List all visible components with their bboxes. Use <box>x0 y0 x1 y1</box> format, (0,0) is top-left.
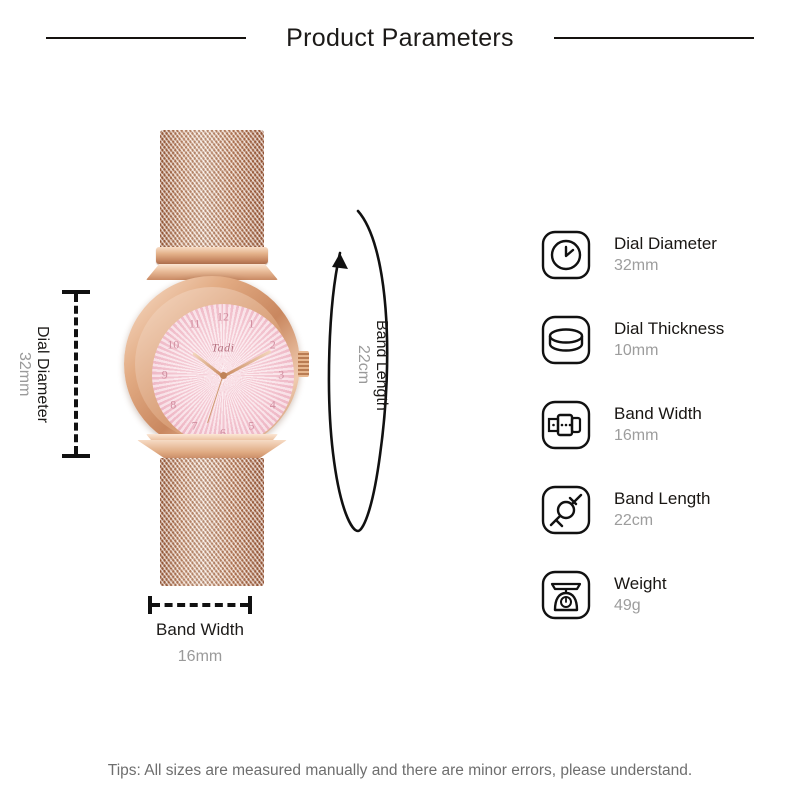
dial-numeral-7: 7 <box>192 419 198 434</box>
watch-face-icon <box>540 229 592 281</box>
watch-dial: Tadi 12 1 2 3 4 5 6 7 8 9 10 11 <box>152 304 294 446</box>
weight-scale-icon <box>540 569 592 621</box>
header-rule-left <box>46 37 246 39</box>
watch-second-hand <box>207 375 223 423</box>
footer-tip: Tips: All sizes are measured manually an… <box>0 762 800 780</box>
band-length-value: 22cm <box>354 345 372 384</box>
measure-cap-bottom <box>62 454 90 458</box>
watch-band-lower <box>160 458 264 586</box>
page-title: Product Parameters <box>286 24 514 53</box>
spec-label: Dial Diameter <box>614 234 717 254</box>
band-length-callout: Band Length 22cm <box>352 300 390 430</box>
spec-value: 16mm <box>614 427 702 445</box>
watch-band-icon <box>540 399 592 451</box>
dial-diameter-measure-line <box>62 290 90 458</box>
product-watch-image: Tadi 12 1 2 3 4 5 6 7 8 9 10 11 <box>112 118 312 588</box>
spec-value: 22cm <box>614 512 710 530</box>
watch-band-upper <box>160 130 264 256</box>
spec-text: Band Length 22cm <box>614 489 710 530</box>
spec-value: 10mm <box>614 342 724 360</box>
watch-case: Tadi 12 1 2 3 4 5 6 7 8 9 10 11 <box>124 276 300 452</box>
spec-label: Weight <box>614 574 667 594</box>
header-rule-right <box>554 37 754 39</box>
spec-row-band-length: Band Length 22cm <box>540 467 790 552</box>
watch-brand-text: Tadi <box>212 341 235 356</box>
measure-dashed-line <box>74 294 78 454</box>
page-header: Product Parameters <box>0 0 800 76</box>
measure-dashed-line-horizontal <box>152 603 248 607</box>
spec-label: Band Width <box>614 404 702 424</box>
watch-center-pin <box>220 372 227 379</box>
dial-numeral-3: 3 <box>278 368 284 383</box>
dial-numeral-10: 10 <box>167 338 179 353</box>
spec-row-weight: Weight 49g <box>540 552 790 637</box>
dial-numeral-4: 4 <box>270 397 276 412</box>
dial-numeral-1: 1 <box>248 316 254 331</box>
spec-row-band-width: Band Width 16mm <box>540 382 790 467</box>
spec-row-dial-diameter: Dial Diameter 32mm <box>540 212 790 297</box>
watch-crown <box>298 351 309 377</box>
dial-diameter-label: Dial Diameter <box>33 326 51 423</box>
spec-label: Dial Thickness <box>614 319 724 339</box>
band-length-label: Band Length <box>372 320 390 411</box>
loop-arrowhead <box>332 253 348 269</box>
dial-numeral-11: 11 <box>189 316 201 331</box>
dial-numeral-5: 5 <box>248 419 254 434</box>
spec-text: Dial Diameter 32mm <box>614 234 717 275</box>
watch-bezel: Tadi 12 1 2 3 4 5 6 7 8 9 10 11 <box>135 287 289 441</box>
band-width-measure-line <box>148 596 252 614</box>
spec-value: 32mm <box>614 257 717 275</box>
watch-diagonal-icon <box>540 484 592 536</box>
band-width-label: Band Width <box>100 620 300 640</box>
spec-text: Dial Thickness 10mm <box>614 319 724 360</box>
watch-clasp-bar <box>156 247 268 264</box>
spec-list: Dial Diameter 32mm Dial Thickness 10mm B… <box>540 212 790 637</box>
measure-cap-right <box>248 596 252 614</box>
dial-diameter-callout: Dial Diameter 32mm <box>8 290 56 458</box>
dial-numeral-8: 8 <box>170 397 176 412</box>
spec-row-dial-thickness: Dial Thickness 10mm <box>540 297 790 382</box>
dial-numeral-9: 9 <box>162 368 168 383</box>
spec-label: Band Length <box>614 489 710 509</box>
dial-diameter-value: 32mm <box>15 352 33 396</box>
spec-value: 49g <box>614 597 667 615</box>
dial-numeral-12: 12 <box>217 309 229 324</box>
spec-text: Band Width 16mm <box>614 404 702 445</box>
spec-text: Weight 49g <box>614 574 667 615</box>
band-width-value: 16mm <box>100 648 300 666</box>
cylinder-icon <box>540 314 592 366</box>
